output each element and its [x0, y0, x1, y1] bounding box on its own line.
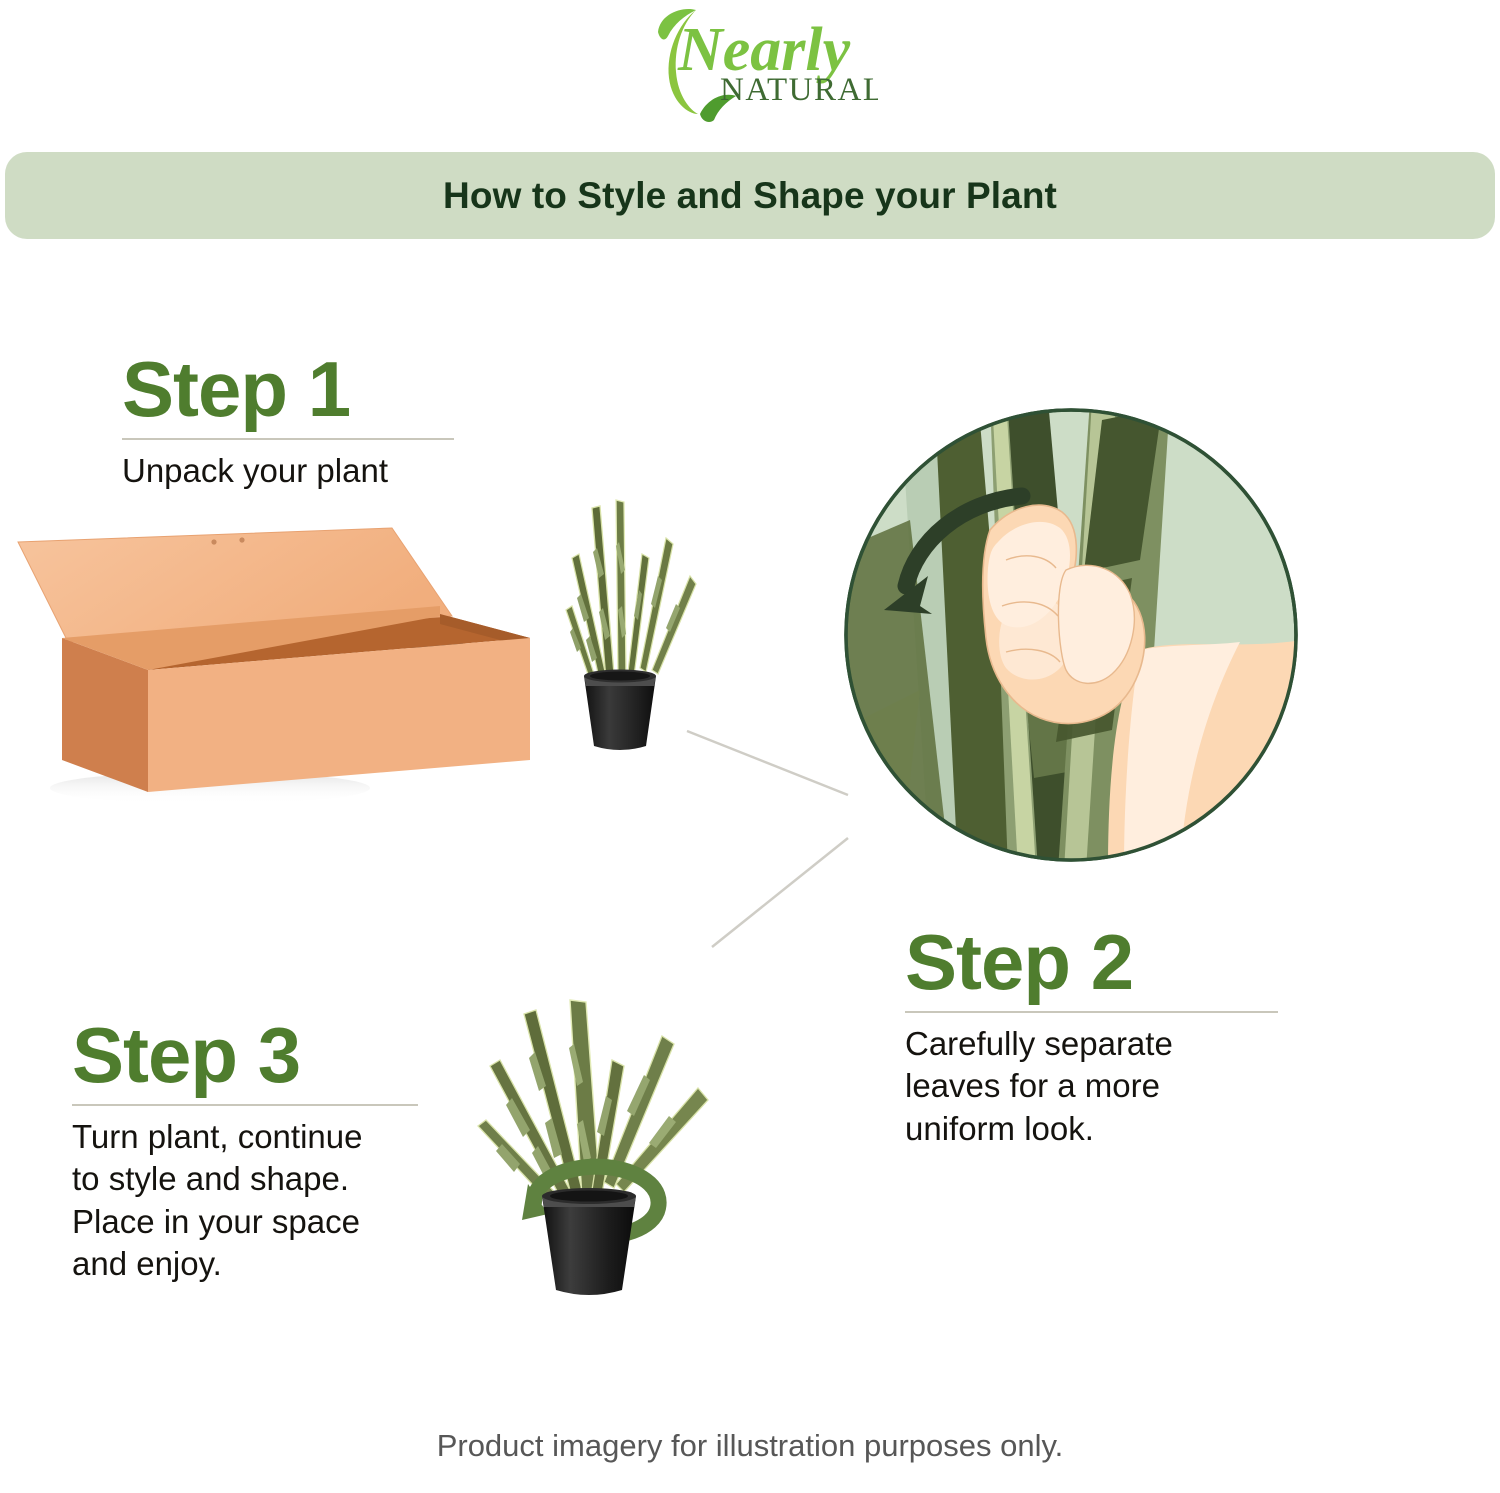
black-pot-compact: [584, 670, 656, 751]
step-2-body: Carefully separate leaves for a more uni…: [905, 1023, 1278, 1150]
brand-logo: Nearly NATURAL: [638, 2, 878, 122]
step-1-text-block: Step 1 Unpack your plant: [122, 352, 454, 492]
step-3-text-block: Step 3 Turn plant, continue to style and…: [72, 1018, 418, 1285]
snake-plant-leaves-fanned: [478, 1000, 708, 1214]
step-3-line-3: Place in your space: [72, 1201, 418, 1243]
step-3-line-4: and enjoy.: [72, 1243, 418, 1285]
shipping-box-illustration: [0, 520, 560, 820]
infographic-page: Nearly NATURAL How to Style and Shape yo…: [0, 0, 1500, 1493]
step-2-heading: Step 2: [905, 925, 1278, 999]
snake-plant-leaves-compact: [566, 500, 696, 686]
step-2-line-2: leaves for a more: [905, 1065, 1278, 1107]
header-banner: How to Style and Shape your Plant: [5, 152, 1495, 239]
step-3-heading: Step 3: [72, 1018, 418, 1092]
step-2-text-block: Step 2 Carefully separate leaves for a m…: [905, 925, 1278, 1150]
step-3-rule: [72, 1104, 418, 1106]
logo-serif-word: NATURAL: [720, 72, 878, 108]
step-1-rule: [122, 438, 454, 440]
hand-separating-leaves-circle-illustration: [840, 400, 1302, 870]
step-1-body: Unpack your plant: [122, 450, 454, 492]
page-title: How to Style and Shape your Plant: [443, 175, 1057, 217]
footer-disclaimer: Product imagery for illustration purpose…: [0, 1428, 1500, 1464]
step-3-body: Turn plant, continue to style and shape.…: [72, 1116, 418, 1285]
step-2-line-3: uniform look.: [905, 1108, 1278, 1150]
step-3-line-1: Turn plant, continue: [72, 1116, 418, 1158]
styled-plant-illustration: [450, 988, 730, 1310]
step-2-rule: [905, 1011, 1278, 1013]
black-pot-styled: [542, 1188, 636, 1295]
step-2-line-1: Carefully separate: [905, 1023, 1278, 1065]
step-3-line-2: to style and shape.: [72, 1158, 418, 1200]
step-1-line-1: Unpack your plant: [122, 450, 454, 492]
step-1-heading: Step 1: [122, 352, 454, 426]
potted-plant-compact-illustration: [550, 490, 710, 770]
